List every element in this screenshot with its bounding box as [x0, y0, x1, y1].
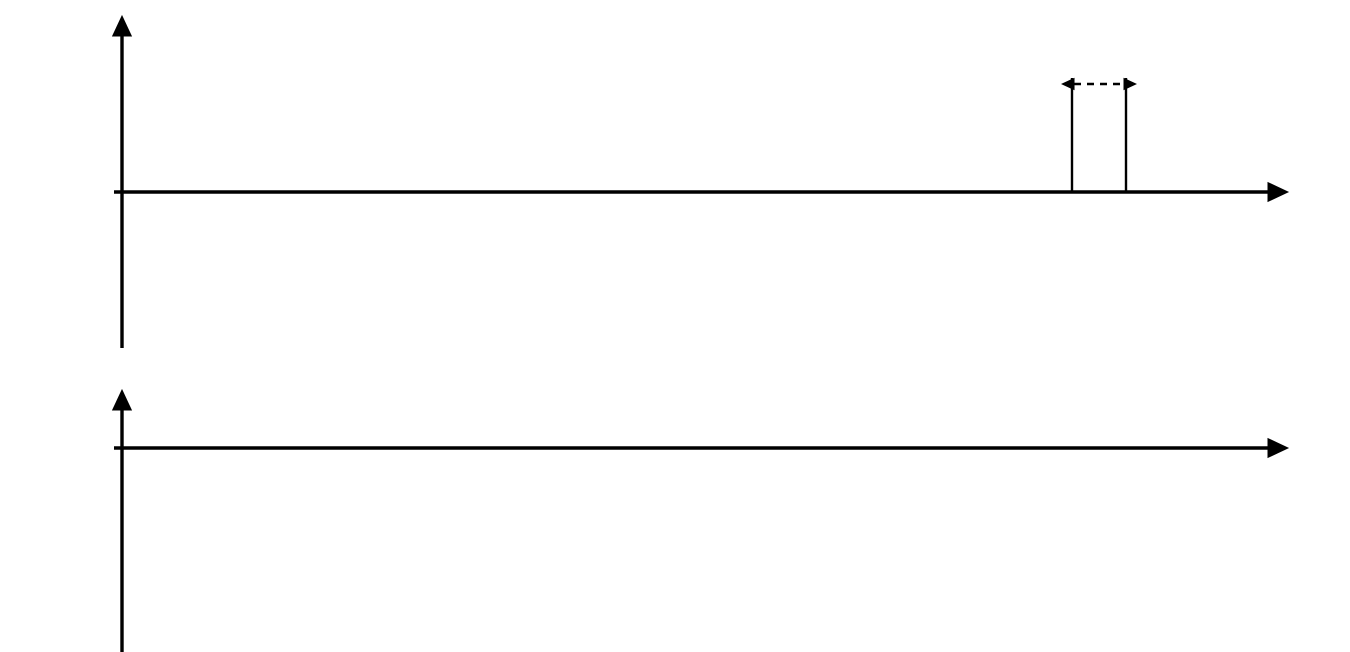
legend: [152, 43, 196, 71]
phase-shift-annotation: [1072, 78, 1126, 192]
bottom-panel-axes: [114, 410, 1268, 652]
figure-container: [0, 0, 1350, 652]
figure-plot-area: [0, 0, 1350, 652]
top-panel-axes: [114, 36, 1268, 348]
